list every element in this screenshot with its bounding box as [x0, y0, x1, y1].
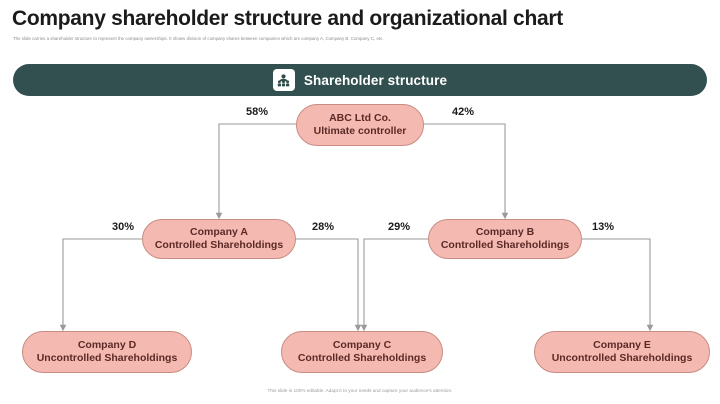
- edge-label-b-to-e: 13%: [592, 221, 614, 233]
- org-node-company-d[interactable]: Company D Uncontrolled Shareholdings: [22, 331, 192, 373]
- section-banner-label: Shareholder structure: [304, 73, 447, 88]
- org-node-subtitle: Ultimate controller: [314, 125, 407, 138]
- org-node-subtitle: Controlled Shareholdings: [155, 239, 283, 252]
- edge-label-b-to-c: 29%: [388, 221, 410, 233]
- org-node-subtitle: Uncontrolled Shareholdings: [37, 352, 178, 365]
- slide-canvas: Company shareholder structure and organi…: [0, 0, 720, 404]
- page-title: Company shareholder structure and organi…: [12, 6, 702, 32]
- org-node-company-a[interactable]: Company A Controlled Shareholdings: [142, 219, 296, 259]
- org-node-root[interactable]: ABC Ltd Co. Ultimate controller: [296, 104, 424, 146]
- org-node-title: Company B: [476, 226, 534, 239]
- org-node-title: Company A: [190, 226, 248, 239]
- slide-footer-note: This slide is 100% editable. Adapt it to…: [0, 387, 720, 394]
- edge-label-a-to-d: 30%: [112, 221, 134, 233]
- org-node-subtitle: Uncontrolled Shareholdings: [552, 352, 693, 365]
- people-group-icon: [273, 69, 295, 91]
- org-node-company-c[interactable]: Company C Controlled Shareholdings: [281, 331, 443, 373]
- org-node-title: ABC Ltd Co.: [329, 112, 391, 125]
- org-node-company-b[interactable]: Company B Controlled Shareholdings: [428, 219, 582, 259]
- edge-label-root-to-a: 58%: [246, 106, 268, 118]
- edge-label-a-to-c: 28%: [312, 221, 334, 233]
- org-node-company-e[interactable]: Company E Uncontrolled Shareholdings: [534, 331, 710, 373]
- section-banner: Shareholder structure: [13, 64, 707, 96]
- org-node-subtitle: Controlled Shareholdings: [298, 352, 426, 365]
- org-node-title: Company C: [333, 339, 391, 352]
- edge-label-root-to-b: 42%: [452, 106, 474, 118]
- org-node-subtitle: Controlled Shareholdings: [441, 239, 569, 252]
- org-node-title: Company D: [78, 339, 136, 352]
- page-subtitle: The slide carries a shareholder structur…: [13, 36, 703, 42]
- org-node-title: Company E: [593, 339, 651, 352]
